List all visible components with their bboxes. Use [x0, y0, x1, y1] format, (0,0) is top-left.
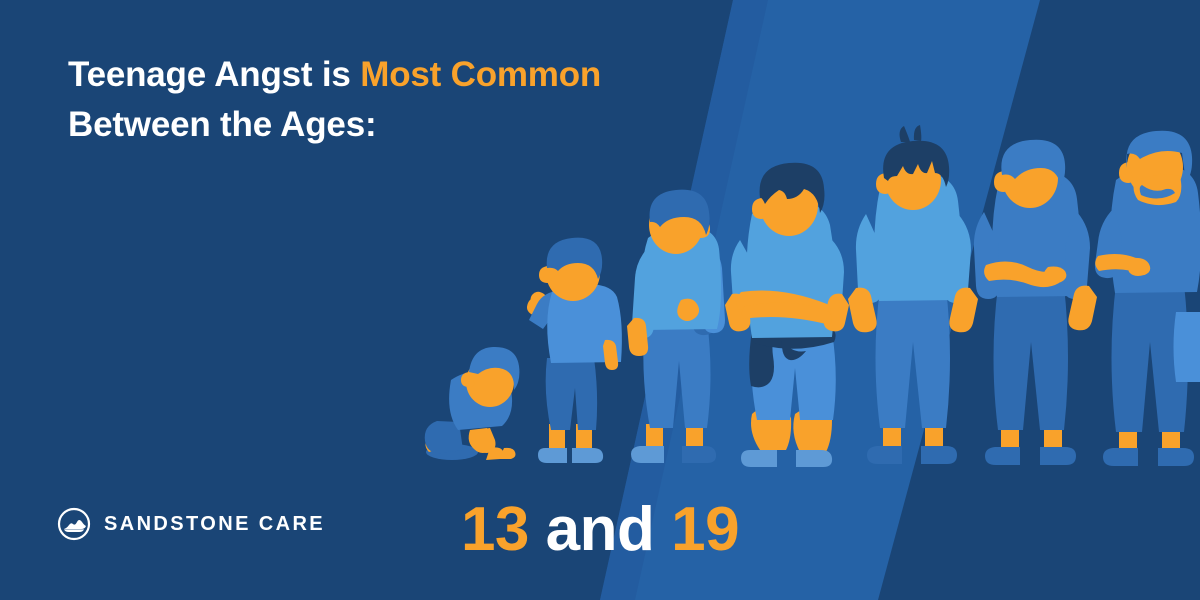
answer-age-low: 13 [461, 495, 529, 564]
headline-line-2: Between the Ages: [68, 100, 601, 150]
headline-line-1-accent: Most Common [360, 55, 601, 94]
headline-line-1: Teenage Angst is Most Common [68, 50, 601, 100]
figure-young-adult [974, 140, 1097, 465]
figure-older-teen [848, 125, 978, 464]
answer-conjunction: and [529, 495, 671, 564]
figure-infant [425, 347, 520, 460]
figure-adult [1095, 131, 1200, 466]
figure-preteen [627, 190, 725, 463]
headline: Teenage Angst is Most Common Between the… [68, 50, 601, 149]
infographic-canvas: Teenage Angst is Most Common Between the… [0, 0, 1200, 600]
answer-age-high: 19 [671, 495, 739, 564]
mountain-circle-icon [57, 507, 91, 541]
figure-teen [725, 163, 849, 467]
headline-line-1-plain: Teenage Angst is [68, 55, 360, 94]
brand-logo-text: SANDSTONE CARE [104, 513, 325, 536]
brand-logo[interactable]: SANDSTONE CARE [57, 507, 325, 541]
figure-toddler [527, 238, 622, 463]
